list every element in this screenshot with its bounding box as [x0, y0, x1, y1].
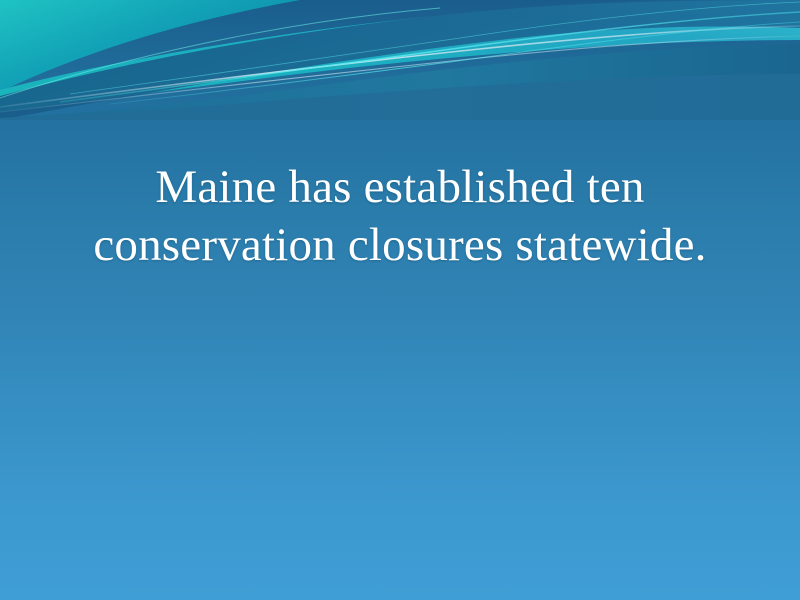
pale-highlight-line	[0, 26, 800, 107]
wave-graphic	[0, 0, 800, 120]
flow-wave-decoration	[0, 0, 800, 120]
bright-filament-2	[110, 22, 800, 104]
mid-band-shape	[0, 44, 800, 120]
slide-title: Maine has established ten conservation c…	[40, 158, 760, 274]
slide-title-line-2: conservation closures statewide.	[40, 216, 760, 274]
presentation-slide: Maine has established ten conservation c…	[0, 0, 800, 600]
teal-edge-filament	[0, 8, 440, 98]
bright-filament-3	[70, 2, 800, 94]
navy-band-shape	[0, 0, 800, 120]
cyan-sweep-band	[0, 0, 800, 112]
pale-highlight-line-secondary	[0, 36, 800, 112]
teal-corner-shape	[0, 0, 300, 92]
cyan-ribbon-upper	[0, 0, 800, 106]
bright-filament-1	[60, 12, 800, 102]
slide-title-line-1: Maine has established ten	[40, 158, 760, 216]
wave-body-shape	[0, 74, 800, 120]
